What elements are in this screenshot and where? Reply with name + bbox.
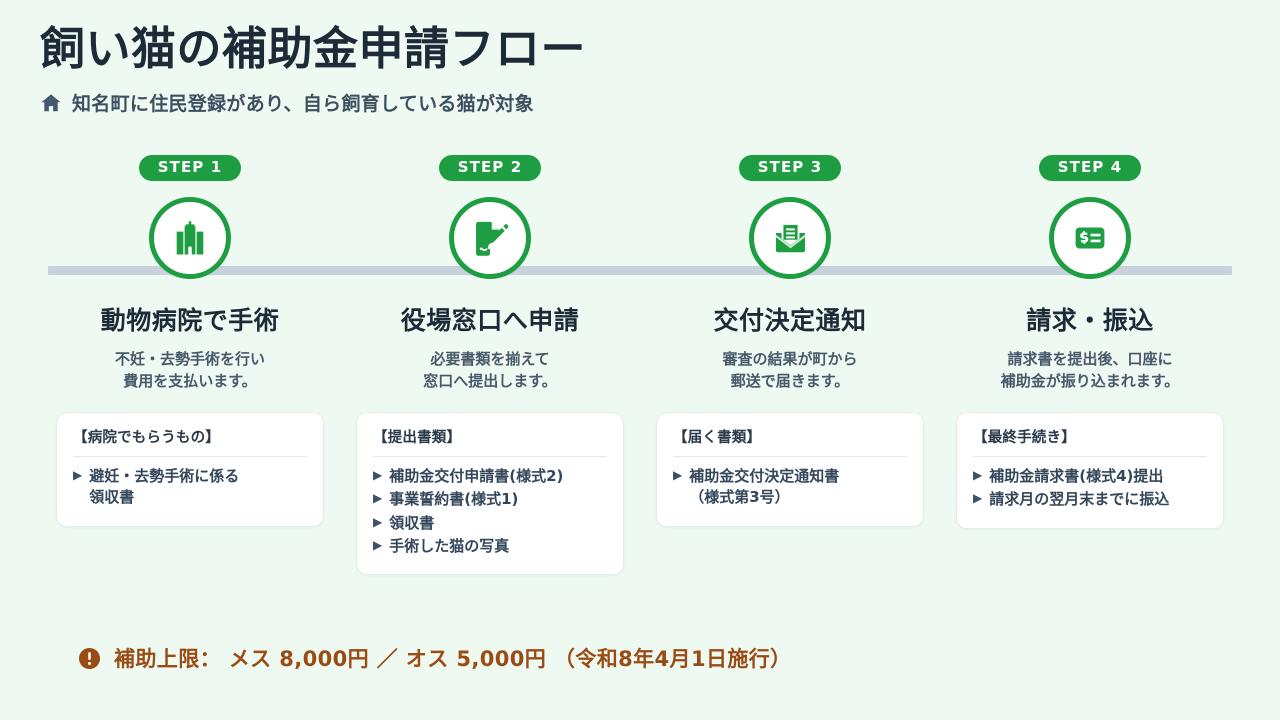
- detail-cards-row: 【病院でもらうもの】 ▶ 避妊・去勢手術に係る 領収書 【提出書類】 ▶ 補助金…: [40, 412, 1240, 575]
- list-item-label: 避妊・去勢手術に係る 領収書: [89, 466, 239, 509]
- step-4: STEP 4 請求・振込 請求書を提出後、口座に 補助金が振り込まれます。: [940, 155, 1240, 393]
- steps-row: STEP 1 動物病院で手術 不妊・去勢手術を行い 費用を支払います。 STEP…: [40, 155, 1240, 393]
- card-col-2: 【提出書類】 ▶ 補助金交付申請書(様式2) ▶ 事業誓約書(様式1) ▶ 領収…: [340, 412, 640, 575]
- envelope-document-icon: [772, 220, 809, 257]
- bullet-arrow-icon: ▶: [373, 536, 382, 555]
- list-item: ▶ 避妊・去勢手術に係る 領収書: [73, 466, 307, 509]
- list-item: ▶ 領収書: [373, 513, 607, 534]
- footer-note: 補助上限： メス 8,000円 ／ オス 5,000円 （令和8年4月1日施行）: [78, 643, 792, 673]
- step-2-description: 必要書類を揃えて 窓口へ提出します。: [423, 349, 557, 393]
- step-4-description: 請求書を提出後、口座に 補助金が振り込まれます。: [1001, 349, 1180, 393]
- list-item: ▶ 補助金請求書(様式4)提出: [973, 466, 1207, 487]
- header: 飼い猫の補助金申請フロー 知名町に住民登録があり、自ら飼育している猫が対象: [40, 22, 1240, 116]
- card-2-heading: 【提出書類】: [373, 426, 607, 457]
- subtitle-row: 知名町に住民登録があり、自ら飼育している猫が対象: [40, 89, 1240, 116]
- bullet-arrow-icon: ▶: [373, 466, 382, 485]
- detail-card-step-4: 【最終手続き】 ▶ 補助金請求書(様式4)提出 ▶ 請求月の翌月末までに振込: [956, 412, 1224, 529]
- card-col-4: 【最終手続き】 ▶ 補助金請求書(様式4)提出 ▶ 請求月の翌月末までに振込: [940, 412, 1240, 529]
- bullet-arrow-icon: ▶: [973, 466, 982, 485]
- list-item: ▶ 事業誓約書(様式1): [373, 489, 607, 510]
- step-3-badge: STEP 3: [739, 155, 842, 181]
- step-1-icon-circle: [149, 197, 231, 279]
- card-col-1: 【病院でもらうもの】 ▶ 避妊・去勢手術に係る 領収書: [40, 412, 340, 527]
- footer-note-text: 補助上限： メス 8,000円 ／ オス 5,000円 （令和8年4月1日施行）: [114, 643, 792, 673]
- bullet-arrow-icon: ▶: [73, 466, 82, 485]
- money-receipt-icon: [1072, 220, 1108, 256]
- alert-circle-icon: [78, 647, 101, 670]
- card-1-heading: 【病院でもらうもの】: [73, 426, 307, 457]
- list-item: ▶ 補助金交付申請書(様式2): [373, 466, 607, 487]
- step-2-badge: STEP 2: [439, 155, 542, 181]
- hospital-icon: [171, 219, 209, 257]
- list-item-label: 補助金交付申請書(様式2): [389, 466, 563, 487]
- step-2-title: 役場窓口へ申請: [401, 301, 580, 337]
- list-item-label: 補助金交付決定通知書 （様式第3号）: [689, 466, 839, 509]
- bullet-arrow-icon: ▶: [373, 513, 382, 532]
- step-2: STEP 2 役場窓口へ申請 必要書類を揃えて 窓口へ提出します。: [340, 155, 640, 393]
- list-item: ▶ 請求月の翌月末までに振込: [973, 489, 1207, 510]
- subtitle-text: 知名町に住民登録があり、自ら飼育している猫が対象: [72, 89, 534, 116]
- list-item-label: 手術した猫の写真: [389, 536, 509, 557]
- card-col-3: 【届く書類】 ▶ 補助金交付決定通知書 （様式第3号）: [640, 412, 940, 527]
- step-3-title: 交付決定通知: [713, 301, 866, 337]
- step-4-title: 請求・振込: [1026, 301, 1154, 337]
- step-4-badge: STEP 4: [1039, 155, 1142, 181]
- home-icon: [40, 92, 62, 114]
- step-4-icon-circle: [1049, 197, 1131, 279]
- step-1: STEP 1 動物病院で手術 不妊・去勢手術を行い 費用を支払います。: [40, 155, 340, 393]
- card-4-list: ▶ 補助金請求書(様式4)提出 ▶ 請求月の翌月末までに振込: [973, 466, 1207, 511]
- step-3: STEP 3 交付決定通知 審査の結果が町から 郵送で届きます。: [640, 155, 940, 393]
- list-item-label: 領収書: [389, 513, 434, 534]
- card-4-heading: 【最終手続き】: [973, 426, 1207, 457]
- step-1-description: 不妊・去勢手術を行い 費用を支払います。: [115, 349, 265, 393]
- bullet-arrow-icon: ▶: [973, 489, 982, 508]
- list-item-label: 事業誓約書(様式1): [389, 489, 518, 510]
- detail-card-step-2: 【提出書類】 ▶ 補助金交付申請書(様式2) ▶ 事業誓約書(様式1) ▶ 領収…: [356, 412, 624, 575]
- step-1-title: 動物病院で手術: [101, 301, 280, 337]
- card-2-list: ▶ 補助金交付申請書(様式2) ▶ 事業誓約書(様式1) ▶ 領収書 ▶ 手術し…: [373, 466, 607, 557]
- step-1-badge: STEP 1: [139, 155, 242, 181]
- file-signature-icon: [471, 219, 509, 257]
- bullet-arrow-icon: ▶: [673, 466, 682, 485]
- bullet-arrow-icon: ▶: [373, 489, 382, 508]
- step-3-description: 審査の結果が町から 郵送で届きます。: [722, 349, 857, 393]
- list-item-label: 補助金請求書(様式4)提出: [989, 466, 1163, 487]
- card-3-heading: 【届く書類】: [673, 426, 907, 457]
- step-2-icon-circle: [449, 197, 531, 279]
- card-3-list: ▶ 補助金交付決定通知書 （様式第3号）: [673, 466, 907, 509]
- card-1-list: ▶ 避妊・去勢手術に係る 領収書: [73, 466, 307, 509]
- detail-card-step-1: 【病院でもらうもの】 ▶ 避妊・去勢手術に係る 領収書: [56, 412, 324, 527]
- list-item-label: 請求月の翌月末までに振込: [989, 489, 1169, 510]
- page-title: 飼い猫の補助金申請フロー: [40, 22, 1240, 75]
- detail-card-step-3: 【届く書類】 ▶ 補助金交付決定通知書 （様式第3号）: [656, 412, 924, 527]
- step-3-icon-circle: [749, 197, 831, 279]
- list-item: ▶ 補助金交付決定通知書 （様式第3号）: [673, 466, 907, 509]
- list-item: ▶ 手術した猫の写真: [373, 536, 607, 557]
